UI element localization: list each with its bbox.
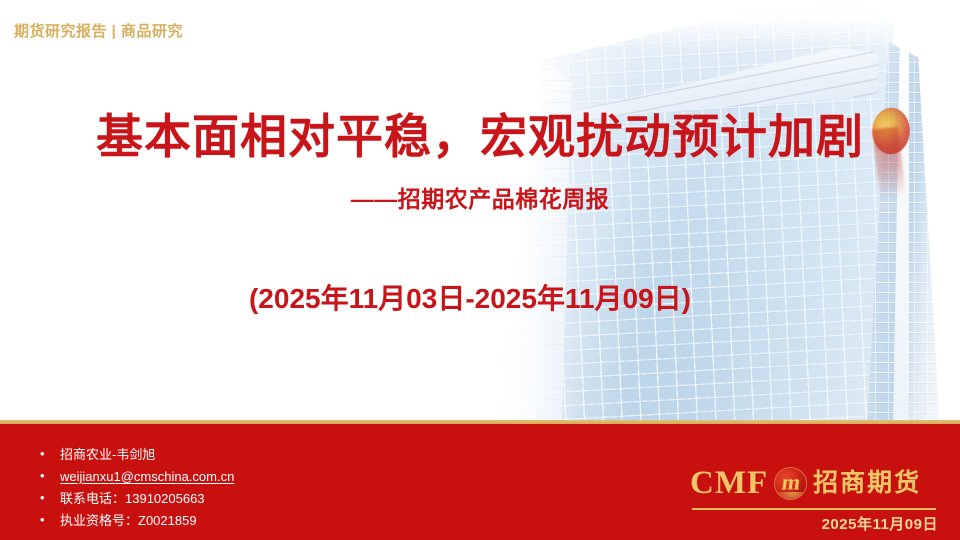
analyst-license: 执业资格号：Z0021859 xyxy=(60,513,197,528)
logo-underline xyxy=(692,508,936,510)
cmf-wordmark: CMF xyxy=(690,467,768,500)
list-item[interactable]: weijianxu1@cmschina.com.cn xyxy=(38,468,234,486)
page-title: 基本面相对平稳，宏观扰动预计加剧 xyxy=(0,98,960,167)
page-subtitle: ——招期农产品棉花周报 xyxy=(0,180,960,214)
report-category-label: 期货研究报告 | 商品研究 xyxy=(14,20,183,41)
publication-date: 2025年11月09日 xyxy=(822,513,938,534)
footer-band: 招商农业-韦剑旭 weijianxu1@cmschina.com.cn 联系电话… xyxy=(0,424,960,540)
list-item: 招商农业-韦剑旭 xyxy=(38,446,234,464)
brand-logo-block: CMF 招商期货 2025年11月09日 xyxy=(690,460,940,532)
list-item: 执业资格号：Z0021859 xyxy=(38,512,234,530)
list-item: 联系电话：13910205663 xyxy=(38,490,234,508)
logo-row: CMF 招商期货 xyxy=(690,460,940,506)
report-cover-slide: 期货研究报告 | 商品研究 基本面相对平稳，宏观扰动预计加剧 ——招期农产品棉花… xyxy=(0,0,960,540)
analyst-name: 招商农业-韦剑旭 xyxy=(60,447,155,462)
report-period: (2025年11月03日-2025年11月09日) xyxy=(0,277,960,317)
analyst-phone: 联系电话：13910205663 xyxy=(60,491,205,506)
analyst-email[interactable]: weijianxu1@cmschina.com.cn xyxy=(60,469,234,484)
company-name-cn: 招商期货 xyxy=(813,471,921,496)
cmf-circle-emblem-icon xyxy=(775,468,806,499)
contact-list: 招商农业-韦剑旭 weijianxu1@cmschina.com.cn 联系电话… xyxy=(38,446,234,534)
